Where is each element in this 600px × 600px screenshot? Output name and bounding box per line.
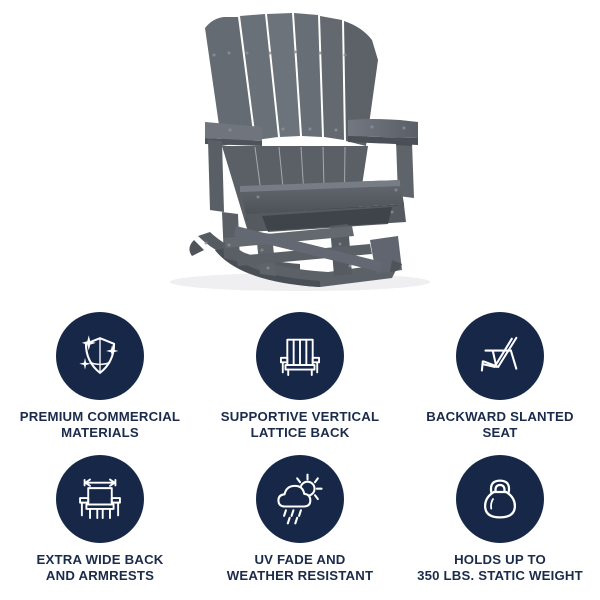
- feature-item-supportive-vertical-lattice-back: SUPPORTIVE VERTICAL LATTICE BACK: [200, 303, 400, 443]
- feature-label: UV FADE AND WEATHER RESISTANT: [227, 552, 374, 584]
- feature-item-uv-fade-and-weather-resistant: UV FADE AND WEATHER RESISTANT: [200, 443, 400, 600]
- product-feature-graphic: PREMIUM COMMERCIAL MATERIALS: [0, 0, 600, 600]
- feature-badge-circle: [256, 455, 344, 543]
- shield-sparkle-icon: [70, 326, 130, 386]
- feature-label: BACKWARD SLANTED SEAT: [426, 409, 574, 441]
- wide-chair-measure-icon: [71, 470, 129, 528]
- vertical-lattice-chair-icon: [271, 327, 329, 385]
- feature-badge-circle: [256, 312, 344, 400]
- feature-label: HOLDS UP TO 350 LBS. STATIC WEIGHT: [417, 552, 583, 584]
- feature-item-backward-slanted-seat: BACKWARD SLANTED SEAT: [400, 303, 600, 443]
- feature-badge-circle: [56, 312, 144, 400]
- product-hero-image: [0, 0, 600, 300]
- slanted-deck-chair-icon: [471, 327, 529, 385]
- feature-item-holds-up-to-350-lbs: HOLDS UP TO 350 LBS. STATIC WEIGHT: [400, 443, 600, 600]
- feature-label: PREMIUM COMMERCIAL MATERIALS: [20, 409, 180, 441]
- feature-item-premium-commercial-materials: PREMIUM COMMERCIAL MATERIALS: [0, 303, 200, 443]
- feature-badge-circle: [456, 312, 544, 400]
- feature-label: EXTRA WIDE BACK AND ARMRESTS: [36, 552, 163, 584]
- adirondack-rocking-chair-illustration: [0, 0, 600, 300]
- feature-item-extra-wide-back-and-armrests: EXTRA WIDE BACK AND ARMRESTS: [0, 443, 200, 600]
- feature-badge-circle: [456, 455, 544, 543]
- feature-grid: PREMIUM COMMERCIAL MATERIALS: [0, 303, 600, 600]
- feature-badge-circle: [56, 455, 144, 543]
- feature-label: SUPPORTIVE VERTICAL LATTICE BACK: [221, 409, 379, 441]
- kettlebell-icon: [472, 471, 528, 527]
- sun-cloud-rain-icon: [270, 469, 330, 529]
